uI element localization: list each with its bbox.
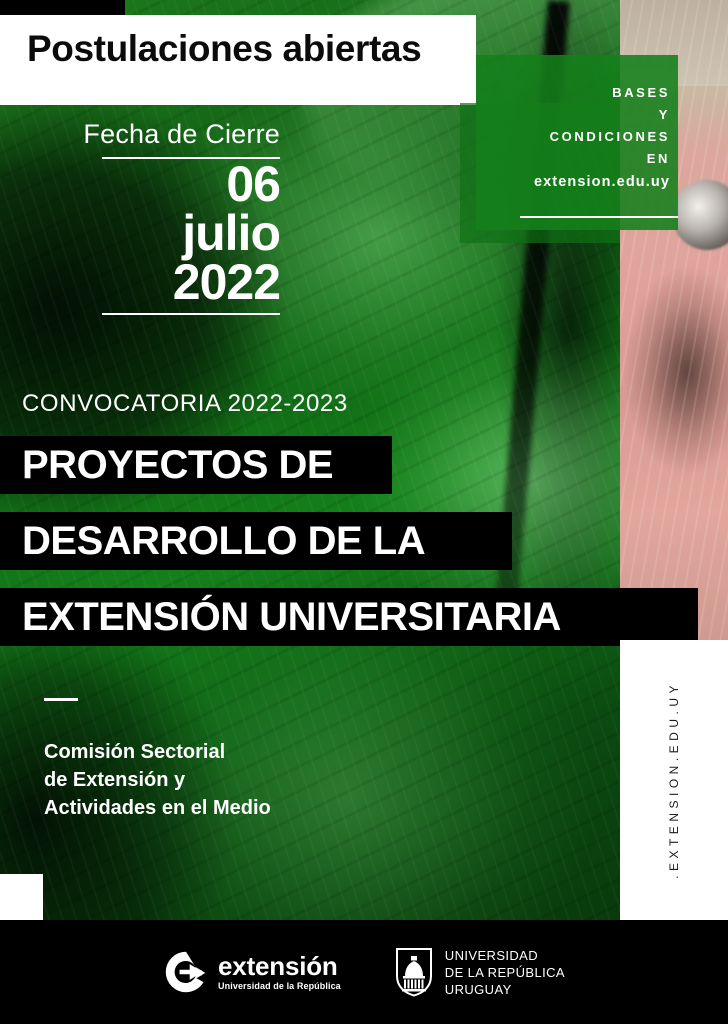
comision-dash	[44, 698, 78, 701]
bases-rule	[520, 216, 678, 218]
deadline-label: Fecha de Cierre	[62, 118, 280, 150]
udelar-logo: UNIVERSIDAD DE LA REPÚBLICA URUGUAY	[394, 947, 565, 998]
extension-circle-icon	[163, 949, 209, 995]
poster: Postulaciones abiertas BASES Y CONDICION…	[0, 0, 728, 1024]
top-left-black-tab	[0, 0, 125, 15]
title-bar-2: DESARROLLO DE LA	[0, 512, 512, 570]
bases-block: BASES Y CONDICIONES EN extension.edu.uy	[430, 82, 670, 194]
deadline-month: julio	[62, 209, 280, 257]
comision-line-1: Comisión Sectorial	[44, 738, 271, 766]
deadline-rule-bottom	[102, 313, 280, 315]
udelar-line-1: UNIVERSIDAD	[445, 947, 565, 964]
extension-logo-sub: Universidad de la República	[218, 982, 341, 991]
vertical-url-text: .EXTENSION.EDU.UY	[667, 681, 681, 879]
bases-url[interactable]: extension.edu.uy	[430, 170, 670, 194]
title-bar-3: EXTENSIÓN UNIVERSITARIA	[0, 588, 698, 646]
bases-line-3: CONDICIONES	[430, 126, 670, 148]
footer-divider	[367, 945, 368, 999]
page-title: Postulaciones abiertas	[27, 28, 421, 70]
bottom-left-white-block	[0, 874, 43, 920]
convocatoria-label: CONVOCATORIA 2022-2023	[22, 390, 348, 418]
deadline-day: 06	[62, 159, 280, 209]
title-bar-1: PROYECTOS DE	[0, 436, 392, 494]
bases-line-1: BASES	[430, 82, 670, 104]
comision-line-2: de Extensión y	[44, 766, 271, 794]
footer: extensión Universidad de la República	[0, 920, 728, 1024]
udelar-line-2: DE LA REPÚBLICA	[445, 964, 565, 981]
extension-logo-name: extensión	[218, 953, 341, 979]
bases-line-2: Y	[430, 104, 670, 126]
udelar-shield-icon	[394, 947, 434, 997]
extension-logo: extensión Universidad de la República	[163, 949, 341, 995]
udelar-line-3: URUGUAY	[445, 981, 565, 998]
deadline-year: 2022	[62, 257, 280, 307]
comision-line-3: Actividades en el Medio	[44, 794, 271, 822]
bases-line-4: EN	[430, 148, 670, 170]
comision-block: Comisión Sectorial de Extensión y Activi…	[44, 738, 271, 822]
vertical-url[interactable]: .EXTENSION.EDU.UY	[620, 640, 728, 920]
deadline-block: Fecha de Cierre 06 julio 2022	[62, 118, 280, 315]
